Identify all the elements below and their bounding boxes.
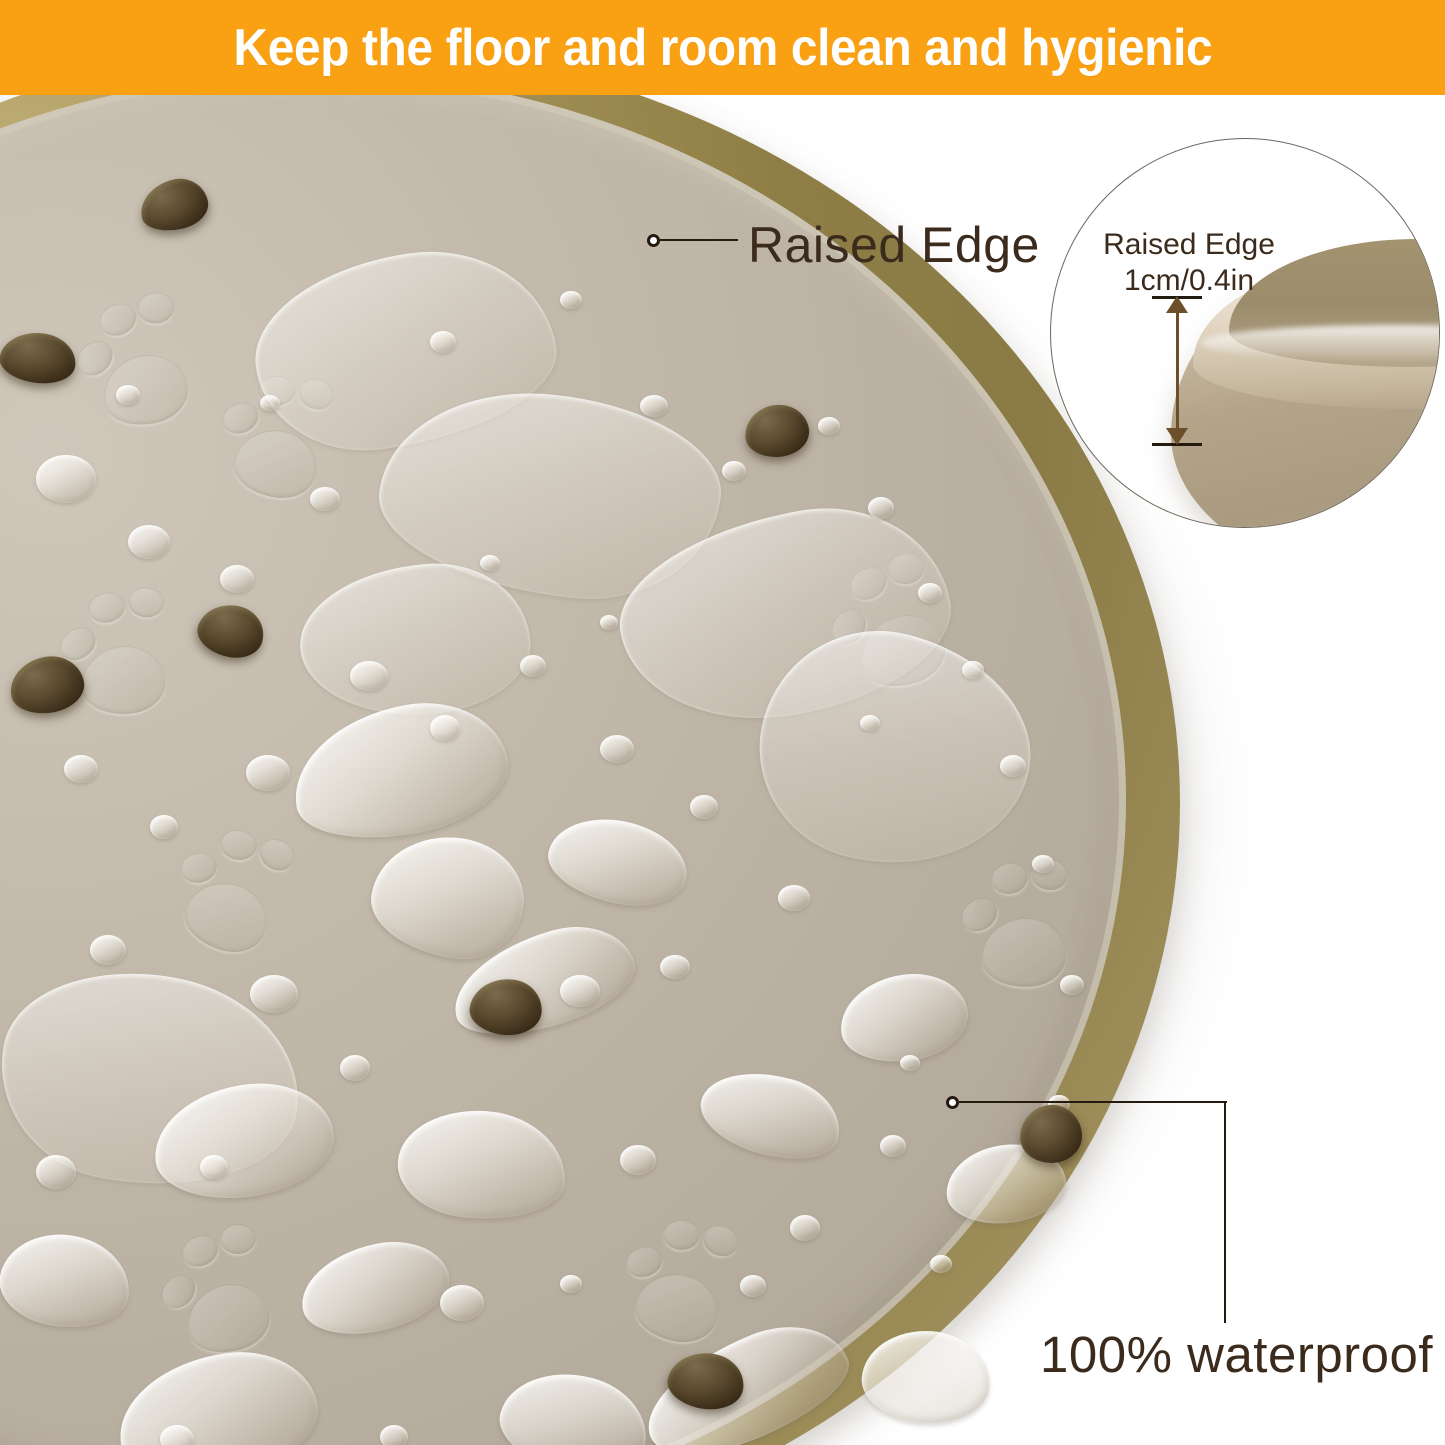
water-droplet [560,1275,582,1293]
water-droplet [600,615,618,630]
water-droplet [430,331,456,353]
water-droplet [116,385,140,405]
water-droplet [246,755,290,791]
water-droplet [860,715,880,731]
waterproof-label: 100% waterproof [1040,1325,1433,1384]
water-droplet [1000,755,1026,777]
dimension-arrowhead-up-icon [1166,296,1188,313]
water-droplet [1060,975,1084,995]
water-droplet [64,755,98,783]
water-droplet [36,1155,76,1189]
inset-label-line1: Raised Edge [1089,227,1289,263]
water-droplet [520,655,546,677]
product-infographic: Keep the floor and room clean and hygien… [0,0,1445,1445]
water-droplet [560,291,582,309]
water-droplet [200,1155,228,1179]
raised-edge-marker-dot [647,234,660,247]
water-droplet [818,417,840,435]
water-droplet [340,1055,370,1081]
water-droplet [440,1285,484,1321]
water-droplet [480,555,500,571]
inset-dimension-label: Raised Edge 1cm/0.4in [1089,227,1289,299]
raised-edge-detail-inset: Raised Edge 1cm/0.4in [1050,138,1440,528]
water-droplet [620,1145,656,1175]
dimension-arrow-line [1176,303,1179,439]
water-droplet [640,395,668,417]
inset-label-line2: 1cm/0.4in [1089,263,1289,299]
water-droplet [690,795,718,819]
header-banner: Keep the floor and room clean and hygien… [0,0,1445,95]
water-droplet [790,1215,820,1241]
water-droplet [430,715,460,741]
water-droplet [150,815,178,839]
water-droplet [220,565,254,593]
waterproof-leader-horizontal [959,1101,1227,1103]
water-droplet [560,975,600,1007]
water-droplet [380,1425,408,1445]
water-droplet [36,455,96,503]
water-droplet [740,1275,766,1297]
water-droplet [250,975,298,1013]
water-droplet [1032,855,1054,873]
water-droplet [260,395,280,411]
water-droplet [930,1255,952,1273]
water-droplet [868,497,894,519]
dimension-arrowhead-down-icon [1166,428,1188,445]
raised-edge-leader-line [660,239,738,241]
water-droplet [90,935,126,965]
water-droplet [160,1425,194,1445]
banner-headline: Keep the floor and room clean and hygien… [233,18,1212,78]
water-droplet [962,661,984,679]
water-droplet [900,1055,920,1071]
waterproof-marker-dot [946,1096,959,1109]
water-droplet [880,1135,906,1157]
water-droplet [660,955,690,979]
water-droplet [722,461,746,481]
water-droplet [350,661,388,691]
waterproof-leader-vertical [1224,1101,1226,1323]
water-droplet [128,525,170,559]
water-droplet [600,735,634,763]
water-droplet [778,885,810,911]
water-droplet [918,583,942,603]
water-droplet [310,487,340,511]
raised-edge-label: Raised Edge [748,216,1040,274]
